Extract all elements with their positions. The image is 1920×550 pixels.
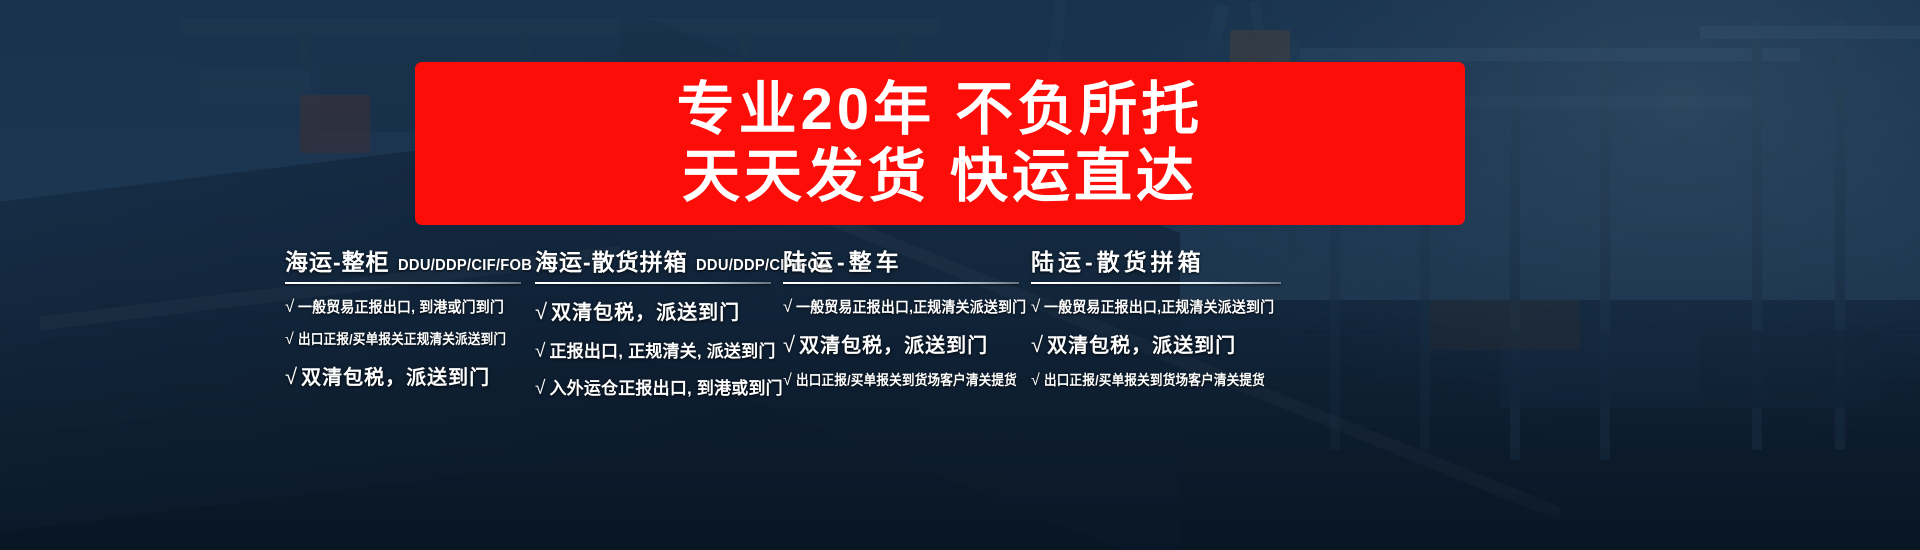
service-title: 海运-整柜 — [285, 243, 390, 277]
hero-banner: 专业20年 不负所托 天天发货 快运直达 海运-整柜 DDU/DDP/CIF/F… — [0, 0, 1920, 550]
service-bullet: √ 正报出口, 正规清关, 派送到门 — [535, 337, 783, 362]
service-column-header: 陆运-整车 — [783, 243, 1031, 282]
check-mark-icon: √ — [1031, 373, 1040, 389]
check-mark-icon: √ — [285, 366, 297, 388]
service-bullet-text: 正报出口, 正规清关, 派送到门 — [549, 337, 775, 362]
check-mark-icon: √ — [1031, 334, 1043, 356]
divider-rule — [783, 282, 1019, 284]
check-mark-icon: √ — [285, 298, 294, 315]
headline-line-2: 天天发货 快运直达 — [682, 147, 1198, 208]
service-bullet-list: √ 一般贸易正报出口, 到港或门到门 √ 出口正报/买单报关正规清关派送到门 √… — [285, 296, 535, 390]
service-bullet-text: 双清包税，派送到门 — [1047, 329, 1236, 358]
service-bullet-list: √ 双清包税，派送到门 √ 正报出口, 正规清关, 派送到门 √ 入外运仓正报出… — [535, 296, 783, 399]
check-mark-icon: √ — [783, 298, 792, 315]
service-bullet: √ 双清包税，派送到门 — [535, 296, 783, 325]
service-column-sea-fcl: 海运-整柜 DDU/DDP/CIF/FOB √ 一般贸易正报出口, 到港或门到门… — [285, 243, 535, 390]
service-column-land-ftl: 陆运-整车 √ 一般贸易正报出口,正规清关派送到门 √ 双清包税，派送到门 √ … — [783, 243, 1031, 390]
check-mark-icon: √ — [535, 342, 545, 361]
service-bullet-text: 出口正报/买单报关正规清关派送到门 — [298, 329, 506, 349]
check-mark-icon: √ — [783, 373, 792, 389]
service-bullet: √ 双清包税，派送到门 — [783, 329, 1031, 358]
check-mark-icon: √ — [1031, 298, 1040, 315]
service-title: 海运-散货拼箱 — [535, 243, 688, 277]
service-bullet-text: 一般贸易正报出口,正规清关派送到门 — [796, 296, 1026, 317]
service-bullet: √ 出口正报/买单报关到货场客户清关提货 — [1031, 370, 1331, 390]
service-bullet: √ 入外运仓正报出口, 到港或到门 — [535, 374, 783, 399]
service-bullet-text: 双清包税，派送到门 — [551, 296, 740, 325]
service-bullet-list: √ 一般贸易正报出口,正规清关派送到门 √ 双清包税，派送到门 √ 出口正报/买… — [783, 296, 1031, 390]
service-bullet-text: 双清包税，派送到门 — [301, 361, 490, 390]
check-mark-icon: √ — [535, 379, 545, 398]
service-bullet-text: 出口正报/买单报关到货场客户清关提货 — [1044, 370, 1265, 390]
service-column-header: 陆运-散货拼箱 — [1031, 243, 1331, 282]
service-columns: 海运-整柜 DDU/DDP/CIF/FOB √ 一般贸易正报出口, 到港或门到门… — [285, 243, 1560, 408]
service-column-sea-lcl: 海运-散货拼箱 DDU/DDP/CIF/FOB √ 双清包税，派送到门 √ 正报… — [535, 243, 783, 399]
service-bullet-list: √ 一般贸易正报出口,正规清关派送到门 √ 双清包税，派送到门 √ 出口正报/买… — [1031, 296, 1331, 390]
service-bullet: √ 一般贸易正报出口,正规清关派送到门 — [1031, 296, 1331, 317]
service-title: 陆运-整车 — [783, 243, 903, 277]
divider-rule — [1031, 282, 1281, 284]
service-bullet-text: 一般贸易正报出口, 到港或门到门 — [298, 296, 504, 317]
check-mark-icon: √ — [783, 334, 795, 356]
service-bullet: √ 出口正报/买单报关正规清关派送到门 — [285, 329, 535, 349]
service-bullet-text: 入外运仓正报出口, 到港或到门 — [549, 374, 782, 399]
service-bullet: √ 双清包税，派送到门 — [1031, 329, 1331, 358]
service-column-header: 海运-散货拼箱 DDU/DDP/CIF/FOB — [535, 243, 783, 282]
check-mark-icon: √ — [285, 332, 294, 348]
divider-rule — [535, 282, 771, 284]
service-subtitle: DDU/DDP/CIF/FOB — [398, 257, 532, 275]
service-bullet: √ 一般贸易正报出口, 到港或门到门 — [285, 296, 535, 317]
check-mark-icon: √ — [535, 301, 547, 323]
service-column-header: 海运-整柜 DDU/DDP/CIF/FOB — [285, 243, 535, 282]
service-bullet: √ 双清包税，派送到门 — [285, 361, 535, 390]
service-bullet-text: 出口正报/买单报关到货场客户清关提货 — [796, 370, 1017, 390]
service-bullet: √ 一般贸易正报出口,正规清关派送到门 — [783, 296, 1031, 317]
headline-plaque: 专业20年 不负所托 天天发货 快运直达 — [415, 62, 1465, 225]
divider-rule — [285, 282, 521, 284]
service-column-land-lcl: 陆运-散货拼箱 √ 一般贸易正报出口,正规清关派送到门 √ 双清包税，派送到门 … — [1031, 243, 1331, 390]
headline-line-1: 专业20年 不负所托 — [677, 80, 1204, 141]
service-bullet: √ 出口正报/买单报关到货场客户清关提货 — [783, 370, 1031, 390]
service-bullet-text: 双清包税，派送到门 — [799, 329, 988, 358]
service-bullet-text: 一般贸易正报出口,正规清关派送到门 — [1044, 296, 1274, 317]
service-title: 陆运-散货拼箱 — [1031, 243, 1205, 277]
